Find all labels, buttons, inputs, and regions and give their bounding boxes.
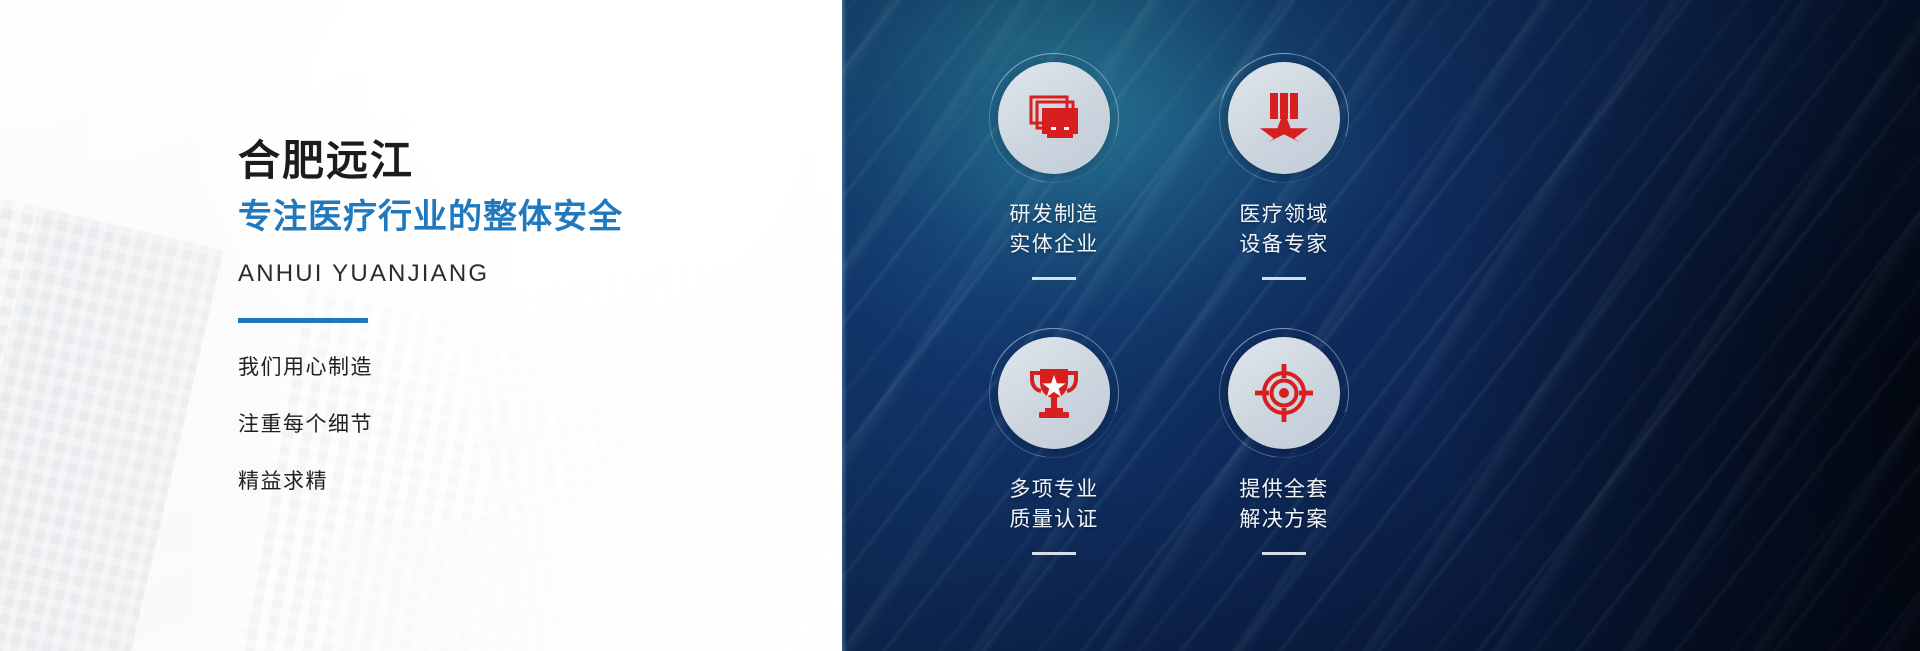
feature-label-line1: 医疗领域 (1184, 200, 1384, 230)
feature-item-quality-certification[interactable]: 多项专业 质量认证 (954, 337, 1154, 555)
slogan-list: 我们用心制造 注重每个细节 精益求精 (238, 357, 798, 492)
trophy-icon (1026, 366, 1082, 420)
badge-circle (998, 62, 1110, 174)
feature-grid: 研发制造 实体企业 (954, 62, 1394, 582)
badge-circle (998, 337, 1110, 449)
medal-icon (1258, 91, 1310, 145)
feature-label: 多项专业 质量认证 (954, 475, 1154, 536)
feature-label: 提供全套 解决方案 (1184, 475, 1384, 536)
feature-label-line2: 解决方案 (1184, 505, 1384, 535)
feature-label-line2: 设备专家 (1184, 230, 1384, 260)
factory-icon (1026, 95, 1082, 141)
page-title: 合肥远江 (238, 140, 798, 182)
badge-circle (1228, 337, 1340, 449)
hero-text-block: 合肥远江 专注医疗行业的整体安全 ANHUI YUANJIANG 我们用心制造 … (238, 0, 798, 651)
page-subtitle: 专注医疗行业的整体安全 (238, 200, 798, 234)
badge-wrapper (1228, 337, 1340, 449)
feature-label-line1: 研发制造 (954, 200, 1154, 230)
accent-divider (238, 318, 368, 323)
badge-circle (1228, 62, 1340, 174)
slogan-item: 注重每个细节 (238, 414, 798, 435)
feature-label-line2: 实体企业 (954, 230, 1154, 260)
feature-item-medical-expert[interactable]: 医疗领域 设备专家 (1184, 62, 1384, 280)
feature-underline (1032, 277, 1076, 280)
feature-label-line2: 质量认证 (954, 505, 1154, 535)
badge-wrapper (998, 62, 1110, 174)
feature-underline (1262, 277, 1306, 280)
slogan-item: 精益求精 (238, 471, 798, 492)
slogan-item: 我们用心制造 (238, 357, 798, 378)
feature-item-full-solution[interactable]: 提供全套 解决方案 (1184, 337, 1384, 555)
target-icon (1255, 364, 1313, 422)
badge-wrapper (998, 337, 1110, 449)
panel-edge-sheen (842, 0, 847, 651)
feature-label-line1: 多项专业 (954, 475, 1154, 505)
badge-wrapper (1228, 62, 1340, 174)
company-name-english: ANHUI YUANJIANG (238, 260, 798, 288)
feature-label: 医疗领域 设备专家 (1184, 200, 1384, 261)
right-feature-panel: 研发制造 实体企业 (842, 0, 1920, 651)
feature-label-line1: 提供全套 (1184, 475, 1384, 505)
left-hero-panel: 合肥远江 专注医疗行业的整体安全 ANHUI YUANJIANG 我们用心制造 … (0, 0, 842, 651)
feature-item-rd-manufacturing[interactable]: 研发制造 实体企业 (954, 62, 1154, 280)
feature-label: 研发制造 实体企业 (954, 200, 1154, 261)
feature-underline (1262, 552, 1306, 555)
feature-underline (1032, 552, 1076, 555)
banner-stage: 合肥远江 专注医疗行业的整体安全 ANHUI YUANJIANG 我们用心制造 … (0, 0, 1920, 651)
